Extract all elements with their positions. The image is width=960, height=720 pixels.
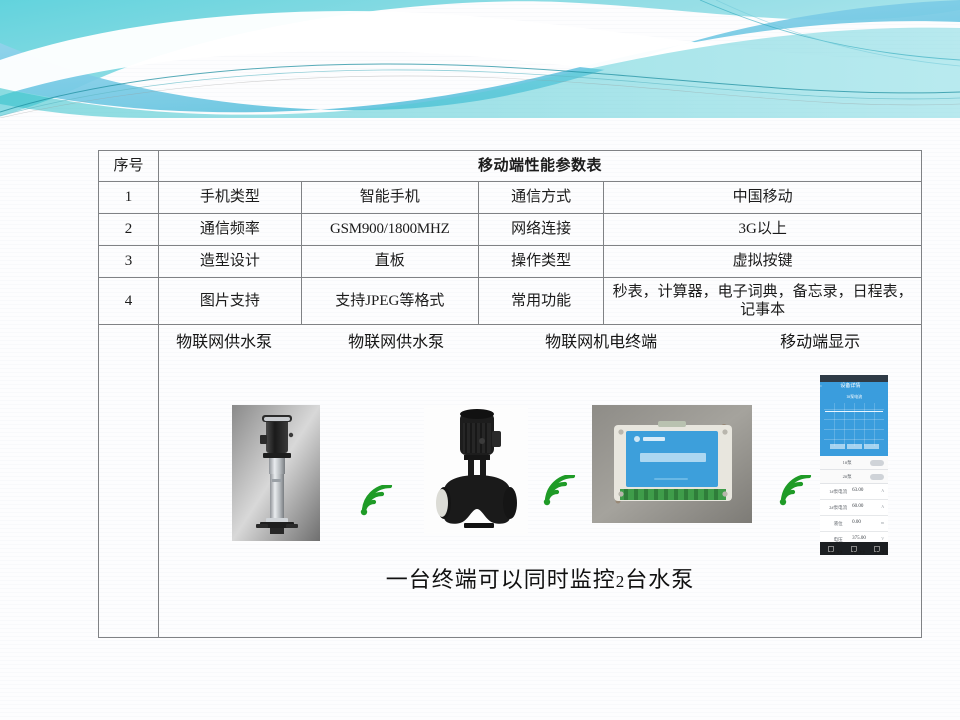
diagram-cell: 物联网供水泵 物联网供水泵 物联网机电终端 移动端显示 (159, 325, 922, 638)
phone-title-bar: ‹ 设备详情 (820, 382, 888, 393)
phone-row-unit: m (874, 521, 884, 526)
phone-toggle-label: 1#泵 (824, 460, 870, 465)
row-index: 2 (99, 214, 159, 246)
phone-toggle-row[interactable]: 2#泵 (820, 470, 888, 484)
phone-row-label: 1#泵电流 (824, 489, 852, 494)
row-value-2: 3G以上 (604, 214, 922, 246)
row-value-1: 支持JPEG等格式 (301, 278, 478, 325)
row-value-2: 秒表，计算器，电子词典，备忘录，日程表，记事本 (604, 278, 922, 325)
wifi-signal-icon (776, 475, 814, 509)
row-key-1: 通信频率 (159, 214, 302, 246)
caption-terminal: 物联网机电终端 (545, 333, 657, 353)
phone-toggle-switch[interactable] (870, 460, 884, 466)
phone-toggle-label: 2#泵 (824, 474, 870, 479)
footnote-number: 2 (616, 572, 626, 591)
row-key-1: 图片支持 (159, 278, 302, 325)
caption-pump-1: 物联网供水泵 (176, 333, 272, 353)
header-wave-decoration (0, 0, 960, 118)
diagram-footnote: 一台终端可以同时监控2台水泵 (162, 567, 918, 594)
phone-home-nav-icon[interactable] (851, 546, 857, 552)
phone-row-unit: A (874, 505, 884, 510)
inline-centrifugal-pump-photo (424, 405, 528, 535)
phone-row-value: 63.00 (852, 488, 874, 494)
table-header-row: 序号 移动端性能参数表 (99, 151, 922, 182)
caption-mobile: 移动端显示 (780, 333, 860, 353)
row-value-1: GSM900/1800MHZ (301, 214, 478, 246)
table-row: 1 手机类型 智能手机 通信方式 中国移动 (99, 182, 922, 214)
phone-row-value: 60.00 (852, 504, 874, 510)
wifi-signal-icon (540, 475, 578, 509)
mobile-spec-table: 序号 移动端性能参数表 1 手机类型 智能手机 通信方式 中国移动 2 通信频率… (98, 150, 922, 638)
phone-row-label: 液位 (824, 521, 852, 526)
phone-status-bar (820, 375, 888, 382)
iot-terminal-device-photo (592, 405, 752, 523)
phone-data-row: 2#泵电流 60.00 A (820, 500, 888, 516)
diagram-captions: 物联网供水泵 物联网供水泵 物联网机电终端 移动端显示 (162, 333, 918, 359)
diagram-row: 物联网供水泵 物联网供水泵 物联网机电终端 移动端显示 (99, 325, 922, 638)
wifi-signal-icon (357, 485, 395, 519)
phone-toggle-switch[interactable] (870, 474, 884, 480)
table-row: 2 通信频率 GSM900/1800MHZ 网络连接 3G以上 (99, 214, 922, 246)
row-index: 3 (99, 246, 159, 278)
row-value-2: 虚拟按键 (604, 246, 922, 278)
caption-pump-2: 物联网供水泵 (348, 333, 444, 353)
phone-toggle-row[interactable]: 1#泵 (820, 456, 888, 470)
row-key-2: 通信方式 (478, 182, 604, 214)
table-title: 移动端性能参数表 (159, 151, 922, 182)
footnote-tail: 台水泵 (625, 567, 694, 592)
row-index: 1 (99, 182, 159, 214)
header-index-label: 序号 (99, 151, 159, 182)
row-value-1: 智能手机 (301, 182, 478, 214)
diagram-spacer-cell (99, 325, 159, 638)
mobile-app-screenshot: ‹ 设备详情 1#泵电流 (820, 375, 888, 555)
table-row: 3 造型设计 直板 操作类型 虚拟按键 (99, 246, 922, 278)
row-key-2: 网络连接 (478, 214, 604, 246)
phone-chart-title: 1#泵电流 (820, 395, 888, 400)
phone-nav-bar (820, 542, 888, 555)
table-row: 4 图片支持 支持JPEG等格式 常用功能 秒表，计算器，电子词典，备忘录，日程… (99, 278, 922, 325)
phone-row-value: 0.00 (852, 520, 874, 526)
row-key-1: 手机类型 (159, 182, 302, 214)
row-value-2: 中国移动 (604, 182, 922, 214)
phone-title: 设备详情 (822, 384, 879, 390)
vertical-multistage-pump-photo (232, 405, 320, 541)
row-key-2: 常用功能 (478, 278, 604, 325)
phone-back-nav-icon[interactable] (828, 546, 834, 552)
phone-row-label: 2#泵电流 (824, 505, 852, 510)
row-index: 4 (99, 278, 159, 325)
phone-row-unit: A (874, 489, 884, 494)
phone-data-row: 液位 0.00 m (820, 516, 888, 532)
row-key-1: 造型设计 (159, 246, 302, 278)
footnote-text: 一台终端可以同时监控 (386, 567, 616, 592)
phone-current-chart: 1#泵电流 (820, 393, 888, 456)
phone-data-row: 1#泵电流 63.00 A (820, 484, 888, 500)
row-value-1: 直板 (301, 246, 478, 278)
phone-recents-nav-icon[interactable] (874, 546, 880, 552)
row-key-2: 操作类型 (478, 246, 604, 278)
